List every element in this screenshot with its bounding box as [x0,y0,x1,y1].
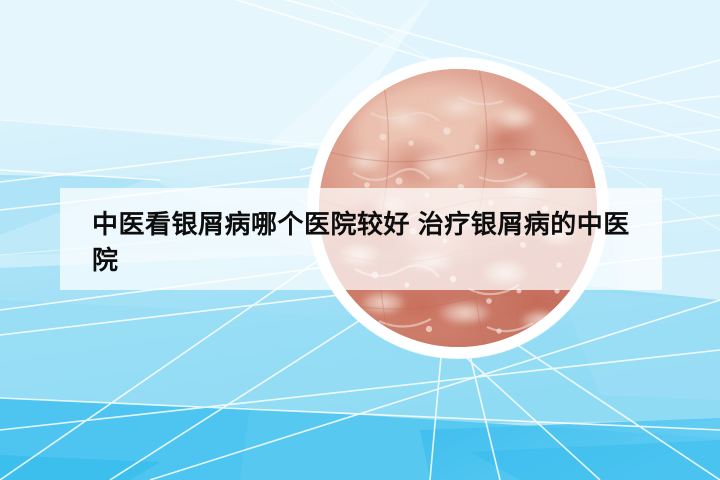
image-canvas: 中医看银屑病哪个医院较好 治疗银屑病的中医院 [0,0,720,480]
page-title: 中医看银屑病哪个医院较好 治疗银屑病的中医院 [92,206,640,278]
